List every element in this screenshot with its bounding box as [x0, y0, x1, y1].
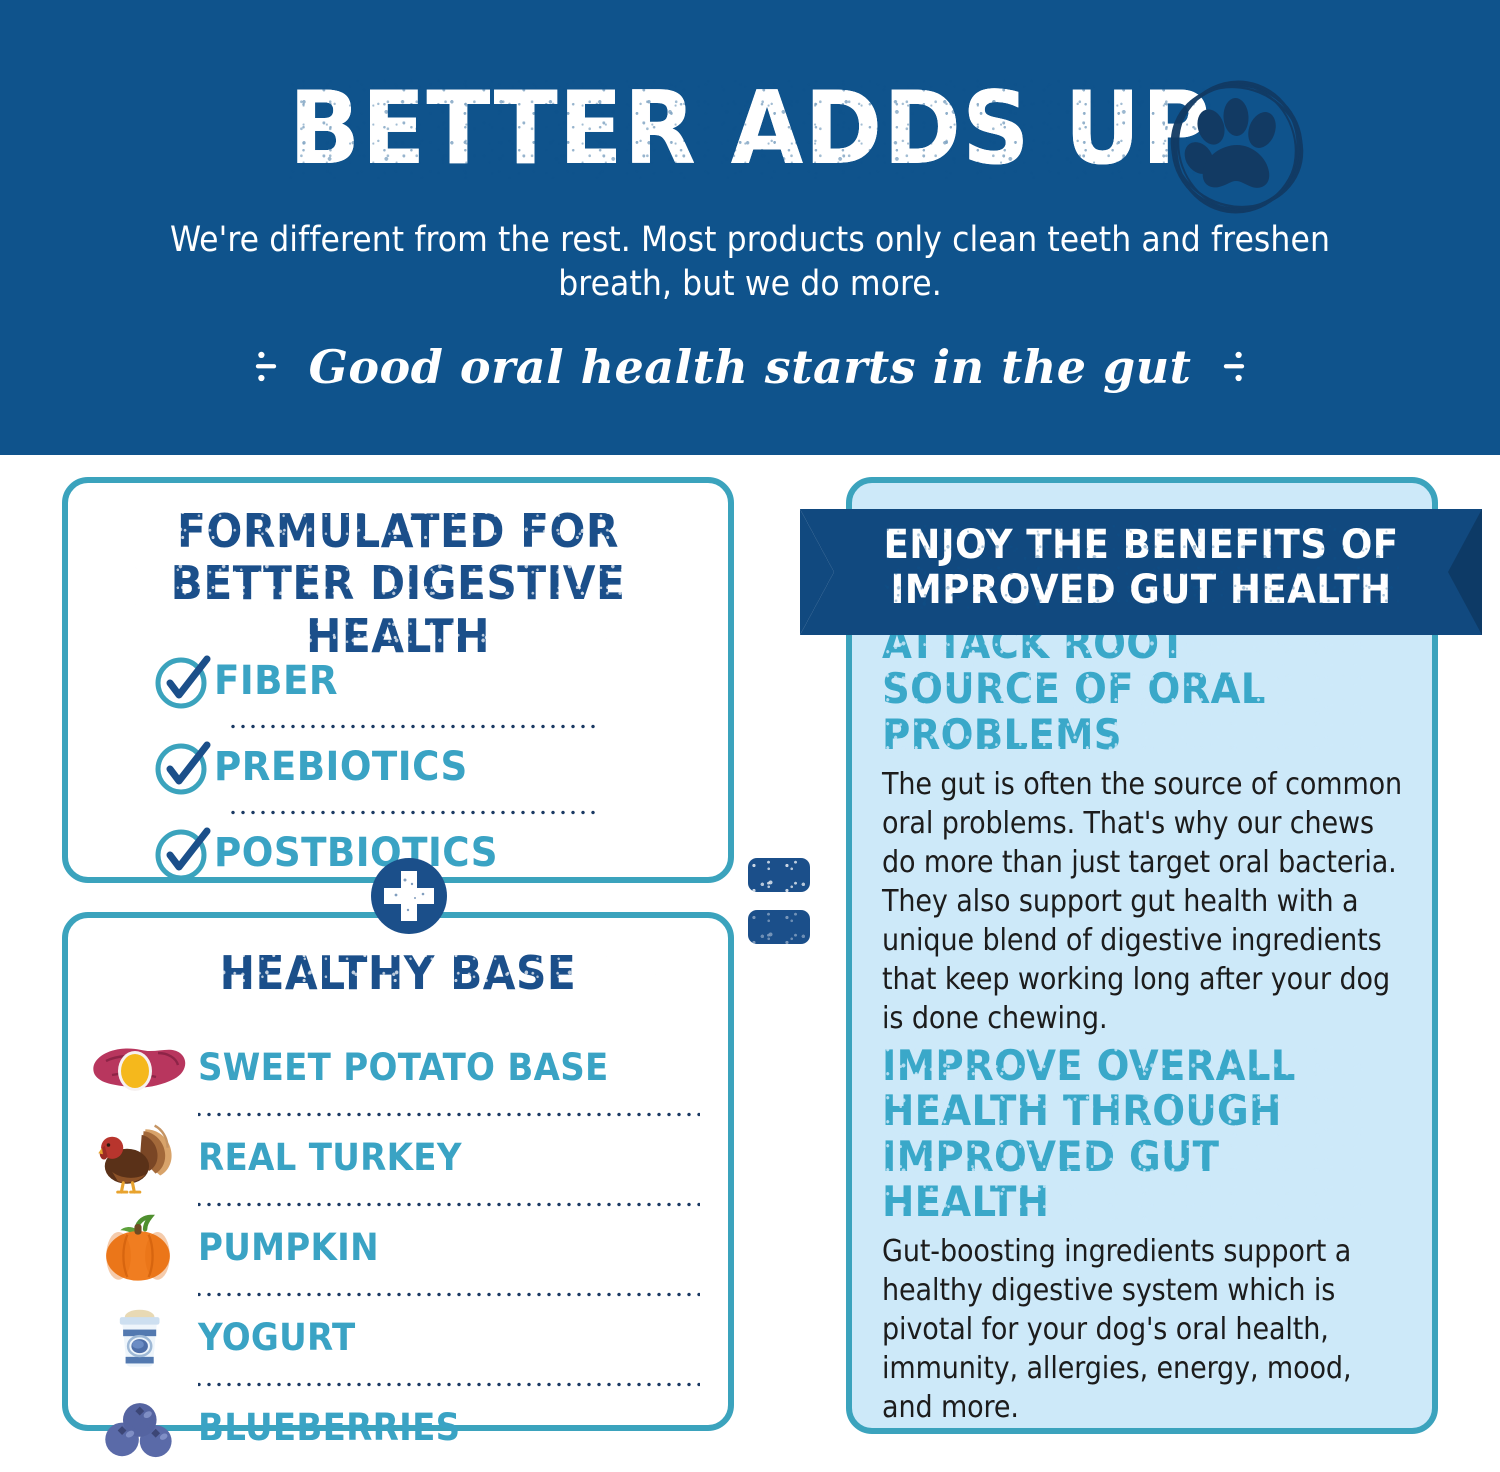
check-circle-icon: [152, 822, 214, 884]
hero-subtitle: We're different from the rest. Most prod…: [160, 218, 1340, 306]
list-item-label: PREBIOTICS: [214, 744, 468, 790]
benefits-ribbon-banner: ENJOY THE BENEFITS OF IMPROVED GUT HEALT…: [800, 509, 1482, 635]
infographic-page: BETTER ADDS UP: [0, 0, 1500, 1464]
equals-bar-bottom: [748, 910, 810, 944]
dash-dot-ornament-right: [1222, 344, 1246, 399]
check-circle-icon: [152, 650, 214, 712]
hero-header: BETTER ADDS UP: [0, 0, 1500, 455]
banner-text-block: ENJOY THE BENEFITS OF IMPROVED GUT HEALT…: [824, 523, 1458, 613]
healthy-base-card-title: HEALTHY BASE: [116, 948, 679, 999]
list-item: YOGURT: [68, 1292, 728, 1382]
list-item-label: POSTBIOTICS: [214, 830, 498, 876]
list-item-label: FIBER: [214, 658, 338, 704]
list-item-label: PUMPKIN: [198, 1226, 379, 1269]
plus-circle-icon: [371, 858, 447, 934]
sweet-potato-icon: [86, 1027, 190, 1107]
list-item-label: BLUEBERRIES: [198, 1406, 460, 1449]
list-item-label: YOGURT: [198, 1316, 356, 1359]
base-title-text: HEALTHY BASE: [220, 946, 577, 1000]
distress-texture-overlay: [748, 910, 810, 944]
list-item: REAL TURKEY: [68, 1112, 728, 1202]
equals-sign-icon: [748, 858, 810, 950]
hero-script-text: Good oral health starts in the gut: [309, 340, 1192, 394]
list-item-label: SWEET POTATO BASE: [198, 1046, 609, 1089]
turkey-icon: [86, 1117, 190, 1197]
list-item-label: REAL TURKEY: [198, 1136, 462, 1179]
benefit-section-attack-root-source: ATTACK ROOT SOURCE OF ORAL PROBLEMS The …: [882, 621, 1408, 1038]
equals-bar-top: [748, 858, 810, 892]
section-heading-text: IMPROVE OVERALL HEALTH THROUGH IMPROVED …: [882, 1041, 1296, 1226]
paw-print-icon: [1163, 73, 1311, 221]
list-item: FIBER: [68, 638, 728, 724]
healthy-base-item-list: SWEET POTATO BASE: [68, 1022, 728, 1472]
dash-dot-ornament-left: [254, 344, 278, 399]
list-item: PREBIOTICS: [68, 724, 728, 810]
banner-line-2: IMPROVED GUT HEALTH: [884, 568, 1399, 613]
banner-line-1: ENJOY THE BENEFITS OF: [884, 523, 1399, 568]
formulated-card: FORMULATED FOR BETTER DIGESTIVE HEALTH F…: [62, 477, 734, 883]
list-item: PUMPKIN: [68, 1202, 728, 1292]
list-item: BLUEBERRIES: [68, 1382, 728, 1472]
check-circle-icon: [152, 736, 214, 798]
yogurt-cup-icon: [86, 1297, 190, 1377]
blueberries-icon: [86, 1387, 190, 1467]
section-heading-text: ATTACK ROOT SOURCE OF ORAL PROBLEMS: [882, 619, 1266, 759]
section-heading: IMPROVE OVERALL HEALTH THROUGH IMPROVED …: [882, 1043, 1366, 1224]
hero-script-line: Good oral health starts in the gut: [0, 340, 1500, 399]
section-heading: ATTACK ROOT SOURCE OF ORAL PROBLEMS: [882, 621, 1366, 757]
healthy-base-card: HEALTHY BASE SWEET POTATO BASE: [62, 912, 734, 1431]
section-body-text: Gut-boosting ingredients support a healt…: [882, 1232, 1408, 1427]
pumpkin-icon: [86, 1207, 190, 1287]
benefit-section-improve-overall-health: IMPROVE OVERALL HEALTH THROUGH IMPROVED …: [882, 1043, 1408, 1427]
distress-texture-overlay: [748, 858, 810, 892]
list-item: SWEET POTATO BASE: [68, 1022, 728, 1112]
hero-title-text: BETTER ADDS UP: [289, 69, 1211, 187]
section-body-text: The gut is often the source of common or…: [882, 765, 1408, 1038]
